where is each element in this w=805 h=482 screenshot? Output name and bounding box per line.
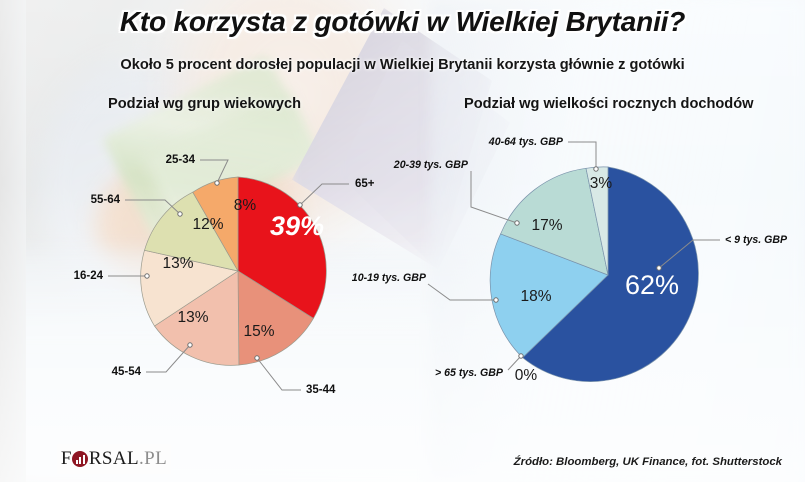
pie-label-16-24: 16-24	[74, 270, 104, 282]
source-credit: Źródło: Bloomberg, UK Finance, fot. Shut…	[514, 456, 782, 468]
callout-over-65k: > 65 tys. GBP	[435, 354, 523, 379]
logo-domain-pl: .PL	[139, 448, 167, 470]
pie-value-over-65k: 0%	[515, 367, 538, 384]
pie-chart-income: 62% 18% 17% 3% 0% < 9 tys. GBP > 65 tys.…	[390, 118, 805, 418]
pie-value-65-plus: 39%	[270, 211, 324, 241]
pie-label-over-65k: > 65 tys. GBP	[435, 367, 504, 379]
pie-value-16-24: 13%	[162, 255, 193, 272]
page-subtitle: Około 5 procent dorosłej populacji w Wie…	[0, 57, 805, 73]
section-heading-income: Podział wg wielkości rocznych dochodów	[464, 96, 754, 112]
logo-text: F RSAL .PL	[61, 448, 167, 470]
callout-20-39k: 20-39 tys. GBP	[393, 159, 519, 225]
page-title: Kto korzysta z gotówki w Wielkiej Brytan…	[0, 6, 805, 38]
pie-value-under-9k: 62%	[625, 270, 679, 300]
pie-value-20-39k: 17%	[531, 217, 562, 234]
callout-35-44: 35-44	[255, 356, 336, 396]
bar-chart-icon	[72, 451, 88, 467]
pie-value-35-44: 15%	[243, 323, 274, 340]
pie-label-45-54: 45-54	[112, 366, 142, 378]
pie-label-65-plus: 65+	[355, 178, 375, 190]
pie-value-40-64k: 3%	[590, 175, 613, 192]
logo-word-rsal: RSAL	[89, 448, 139, 470]
forsal-logo[interactable]: F RSAL .PL	[57, 444, 171, 474]
pie-chart-age-groups: 39% 15% 13% 13% 12% 8% 65+ 35-44 45-54 1…	[0, 118, 420, 418]
pie-label-40-64k: 40-64 tys. GBP	[488, 136, 564, 148]
pie-label-under-9k: < 9 tys. GBP	[725, 234, 788, 246]
pie-label-55-64: 55-64	[91, 194, 121, 206]
pie-value-55-64: 12%	[192, 216, 223, 233]
pie-label-25-34: 25-34	[166, 154, 196, 166]
callout-40-64k: 40-64 tys. GBP	[488, 136, 598, 171]
callout-25-34: 25-34	[166, 154, 228, 185]
pie-label-35-44: 35-44	[306, 384, 336, 396]
pie-value-45-54: 13%	[177, 309, 208, 326]
pie-value-10-19k: 18%	[520, 288, 551, 305]
callout-65-plus: 65+	[298, 178, 375, 207]
infographic-canvas: Kto korzysta z gotówki w Wielkiej Brytan…	[0, 0, 805, 482]
callout-16-24: 16-24	[74, 270, 150, 282]
pie-label-10-19k: 10-19 tys. GBP	[352, 272, 427, 284]
section-heading-age: Podział wg grup wiekowych	[108, 96, 301, 112]
pie-label-20-39k: 20-39 tys. GBP	[393, 159, 469, 171]
pie-value-25-34: 8%	[234, 197, 257, 214]
logo-letter-f: F	[61, 448, 72, 470]
